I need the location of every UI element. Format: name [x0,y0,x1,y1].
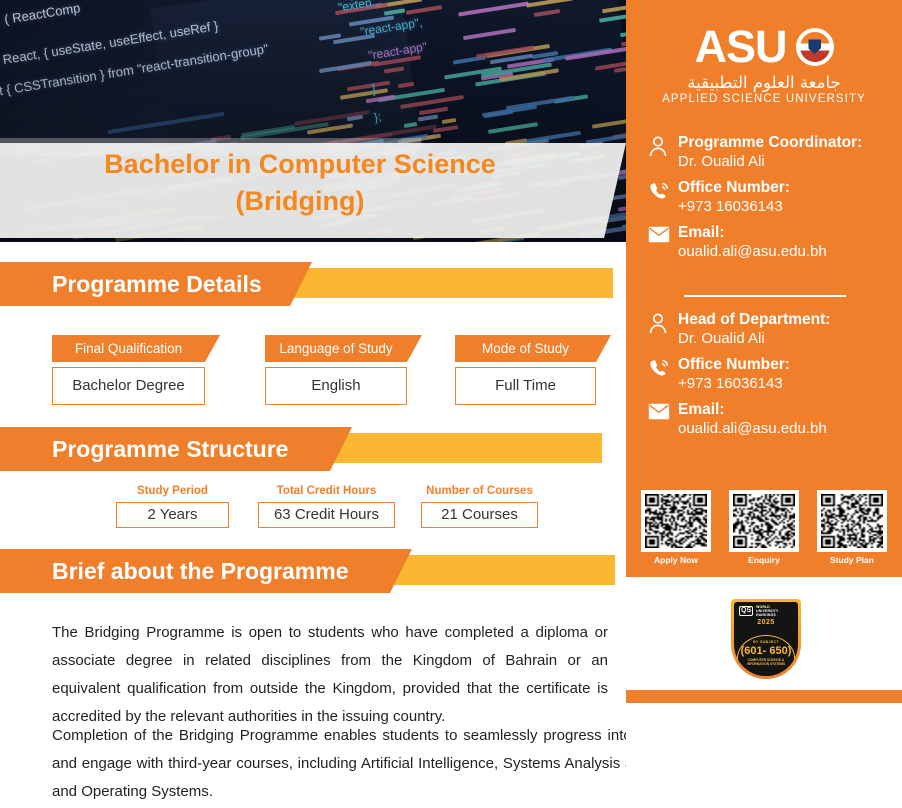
stat-label: Total Credit Hours [258,485,395,497]
logo-english-name: APPLIED SCIENCE UNIVERSITY [626,93,902,105]
section-header-programme-structure: Programme Structure [0,427,626,475]
badge-subject-field: COMPUTER SCIENCE & INFORMATION SYSTEMS [738,658,794,666]
hod-email-value[interactable]: oualid.ali@asu.edu.bh [678,419,902,439]
badge-outer: QS WORLD UNIVERSITY RANKINGS 2025 BY SUB… [731,599,801,679]
hod-office-label: Office Number: [678,355,902,374]
contact-role-row: Head of Department: Dr. Oualid Ali [648,310,902,349]
stat-label: Number of Courses [421,485,538,497]
detail-card-tag: Mode of Study [455,335,596,362]
badge-by-subject: BY SUBJECT [738,640,794,644]
coordinator-label: Programme Coordinator: [678,133,902,152]
phone-icon [648,178,678,207]
badge-line-rankings: RANKINGS [756,614,793,618]
contact-email-row[interactable]: Email: oualid.ali@asu.edu.bh [648,223,902,262]
qr-label: Enquiry [729,555,799,565]
badge-rank-range: (601- 650) [738,645,794,657]
logo-acronym: ASU [694,24,786,69]
page-title-line1: Bachelor in Computer Science [0,146,600,183]
badge-ranking-lines: WORLD UNIVERSITY RANKINGS [756,606,793,618]
phone-icon [648,355,678,384]
asu-logo: ASU جامعة العلوم التطبيقية APPLIED SCIEN… [626,24,902,105]
person-icon [648,310,678,339]
sidebar-divider [684,295,846,297]
qr-code-image[interactable] [641,490,711,552]
stat-total-credit-hours: Total Credit Hours 63 Credit Hours [258,485,395,528]
hod-name: Dr. Oualid Ali [678,329,902,349]
detail-card-value: English [265,367,407,405]
hod-office-value: +973 16036143 [678,374,902,394]
detail-card-final-qualification: Final Qualification Bachelor Degree [52,335,205,405]
email-icon [648,223,678,248]
detail-card-value: Bachelor Degree [52,367,205,405]
stat-value: 2 Years [116,502,229,528]
hod-email-label: Email: [678,400,902,419]
detail-card-language-of-study: Language of Study English [265,335,407,405]
qr-code-image[interactable] [817,490,887,552]
sidebar-bottom-white [626,703,902,808]
qr-label: Study Plan [817,555,887,565]
qr-enquiry[interactable]: Enquiry [729,490,799,565]
detail-card-value: Full Time [455,367,596,405]
coordinator-email-value[interactable]: oualid.ali@asu.edu.bh [678,242,902,262]
contact-phone-row: Office Number: +973 16036143 [648,178,902,217]
detail-card-tag: Final Qualification [52,335,205,362]
stat-number-of-courses: Number of Courses 21 Courses [421,485,538,528]
badge-circle: BY SUBJECT (601- 650) COMPUTER SCIENCE &… [737,635,795,676]
detail-card-mode-of-study: Mode of Study Full Time [455,335,596,405]
stat-study-period: Study Period 2 Years [116,485,229,528]
section-header-brief: Brief about the Programme [0,549,626,597]
coordinator-name: Dr. Oualid Ali [678,152,902,172]
coordinator-office-value: +973 16036143 [678,197,902,217]
brief-paragraph-1: The Bridging Programme is open to studen… [52,619,608,731]
section-title-programme-details: Programme Details [52,270,262,298]
contact-role-row: Programme Coordinator: Dr. Oualid Ali [648,133,902,172]
sidebar-bottom-orange-bar [651,693,902,703]
stat-label: Study Period [116,485,229,497]
section-title-brief: Brief about the Programme [52,557,349,585]
email-icon [648,400,678,425]
hod-label: Head of Department: [678,310,902,329]
section-title-programme-structure: Programme Structure [52,435,288,463]
section-header-programme-details: Programme Details [0,262,626,310]
person-icon [648,133,678,162]
coordinator-office-label: Office Number: [678,178,902,197]
badge-inner: QS WORLD UNIVERSITY RANKINGS 2025 BY SUB… [734,602,798,676]
university-crest-icon [796,28,834,66]
contact-phone-row: Office Number: +973 16036143 [648,355,902,394]
detail-card-tag: Language of Study [265,335,407,362]
qr-label: Apply Now [641,555,711,565]
qr-code-group: Apply Now Enquiry Study Plan [641,490,887,565]
logo-arabic-name: جامعة العلوم التطبيقية [626,73,902,92]
qr-code-image[interactable] [729,490,799,552]
stat-value: 63 Credit Hours [258,502,395,528]
page-title: Bachelor in Computer Science (Bridging) [0,146,600,221]
contact-block-head-of-department: Head of Department: Dr. Oualid Ali Offic… [648,310,902,441]
qs-ranking-badge: QS WORLD UNIVERSITY RANKINGS 2025 BY SUB… [731,599,801,679]
contact-block-coordinator: Programme Coordinator: Dr. Oualid Ali Of… [648,133,902,264]
stat-value: 21 Courses [421,502,538,528]
qr-study-plan[interactable]: Study Plan [817,490,887,565]
contact-email-row[interactable]: Email: oualid.ali@asu.edu.bh [648,400,902,439]
badge-top: QS WORLD UNIVERSITY RANKINGS [734,602,798,618]
badge-year: 2025 [734,619,798,626]
qr-apply-now[interactable]: Apply Now [641,490,711,565]
coordinator-email-label: Email: [678,223,902,242]
hero-image: ( ReactComp rt React, { useState, useEff… [0,0,626,242]
page-title-line2: (Bridging) [0,183,600,220]
qs-logo: QS [739,606,753,616]
